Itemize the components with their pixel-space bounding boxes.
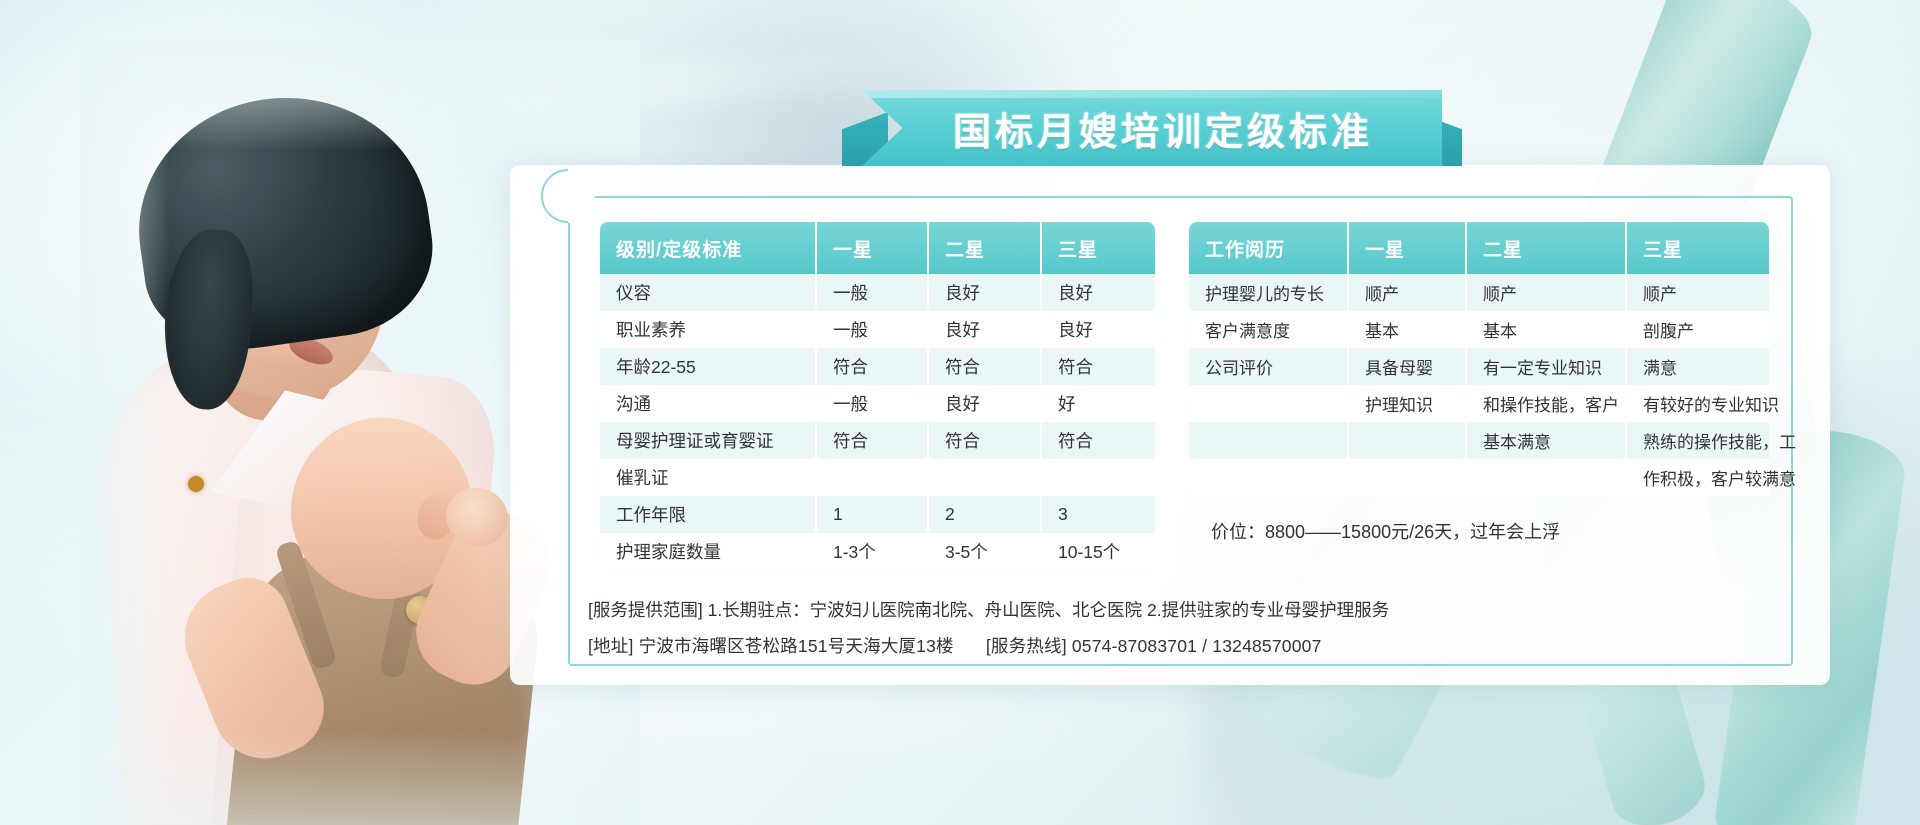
cell-two-star: 有一定专业知识	[1467, 348, 1627, 385]
address-text: [地址] 宁波市海曙区苍松路151号天海大厦13楼	[588, 636, 954, 656]
price-note: 价位：8800——15800元/26天，过年会上浮	[1189, 518, 1769, 544]
tables-area: 级别/定级标准 一星 二星 三星 仪容 一般 良好 良好 职业素养 一般 良好	[600, 222, 1770, 570]
cell-one-star: 顺产	[1349, 274, 1467, 311]
cell-two-star: 顺产	[1467, 274, 1627, 311]
cell-one-star: 1	[817, 496, 929, 533]
table-row: 客户满意度 基本 基本 剖腹产	[1189, 311, 1769, 348]
cell-one-star: 1-3个	[817, 533, 929, 570]
cell-one-star: 符合	[817, 348, 929, 385]
cell-three-star: 剖腹产	[1627, 311, 1769, 348]
experience-section: 工作阅历 一星 二星 三星 护理婴儿的专长 顺产 顺产 顺产 客户满意度	[1189, 222, 1769, 544]
row-label: 催乳证	[600, 459, 817, 496]
col-header-three-star: 三星	[1627, 222, 1769, 274]
row-label: 护理家庭数量	[600, 533, 817, 570]
row-label: 仪容	[600, 274, 817, 311]
cell-three-star: 顺产	[1627, 274, 1769, 311]
table-body: 仪容 一般 良好 良好 职业素养 一般 良好 良好 年龄22-55 符合 符合 …	[600, 274, 1155, 570]
table-row: 工作年限 1 2 3	[600, 496, 1155, 533]
cell-two-star	[929, 459, 1042, 496]
cell-two-star: 2	[929, 496, 1042, 533]
table-head: 级别/定级标准 一星 二星 三星	[600, 222, 1155, 274]
table-header-row: 级别/定级标准 一星 二星 三星	[600, 222, 1155, 274]
cell-two-star: 3-5个	[929, 533, 1042, 570]
cell-one-star: 一般	[817, 274, 929, 311]
cell-two-star: 基本满意	[1467, 422, 1627, 459]
table-head: 工作阅历 一星 二星 三星	[1189, 222, 1769, 274]
cell-three-star: 良好	[1042, 274, 1155, 311]
cell-two-star: 良好	[929, 311, 1042, 348]
table-row: 公司评价 具备母婴 有一定专业知识 满意	[1189, 348, 1769, 385]
cell-one-star: 一般	[817, 385, 929, 422]
row-label: 工作年限	[600, 496, 817, 533]
cell-two-star	[1467, 459, 1627, 496]
col-header-one-star: 一星	[1349, 222, 1467, 274]
cell-two-star: 符合	[929, 348, 1042, 385]
work-experience-table: 工作阅历 一星 二星 三星 护理婴儿的专长 顺产 顺产 顺产 客户满意度	[1189, 222, 1769, 496]
cell-two-star: 良好	[929, 385, 1042, 422]
row-label: 客户满意度	[1189, 311, 1349, 348]
table-row: 护理知识 和操作技能，客户 有较好的专业知识	[1189, 385, 1769, 422]
cell-three-star: 3	[1042, 496, 1155, 533]
row-label: 年龄22-55	[600, 348, 817, 385]
table-row: 护理婴儿的专长 顺产 顺产 顺产	[1189, 274, 1769, 311]
cell-one-star: 符合	[817, 422, 929, 459]
col-header-two-star: 二星	[929, 222, 1042, 274]
cell-one-star	[817, 459, 929, 496]
cell-two-star: 良好	[929, 274, 1042, 311]
table-row: 基本满意 熟练的操作技能，工	[1189, 422, 1769, 459]
cell-one-star	[1349, 459, 1467, 496]
row-label	[1189, 459, 1349, 496]
cell-two-star: 符合	[929, 422, 1042, 459]
cell-three-star: 良好	[1042, 311, 1155, 348]
table-row: 年龄22-55 符合 符合 符合	[600, 348, 1155, 385]
contact-line: [地址] 宁波市海曙区苍松路151号天海大厦13楼 [服务热线] 0574-87…	[588, 628, 1389, 664]
row-label: 沟通	[600, 385, 817, 422]
cell-one-star: 一般	[817, 311, 929, 348]
row-label: 职业素养	[600, 311, 817, 348]
row-label: 母婴护理证或育婴证	[600, 422, 817, 459]
col-header-two-star: 二星	[1467, 222, 1627, 274]
cell-three-star: 作积极，客户较满意	[1627, 459, 1769, 496]
cell-one-star: 具备母婴	[1349, 348, 1467, 385]
table-row: 职业素养 一般 良好 良好	[600, 311, 1155, 348]
row-label: 护理婴儿的专长	[1189, 274, 1349, 311]
cell-two-star: 基本	[1467, 311, 1627, 348]
footer-info: [服务提供范围] 1.长期驻点：宁波妇儿医院南北院、舟山医院、北仑医院 2.提供…	[588, 592, 1389, 664]
table-row: 沟通 一般 良好 好	[600, 385, 1155, 422]
table-row: 催乳证	[600, 459, 1155, 496]
cell-three-star: 10-15个	[1042, 533, 1155, 570]
cell-two-star: 和操作技能，客户	[1467, 385, 1627, 422]
table-body: 护理婴儿的专长 顺产 顺产 顺产 客户满意度 基本 基本 剖腹产 公司评价 具备…	[1189, 274, 1769, 496]
row-label: 公司评价	[1189, 348, 1349, 385]
cell-three-star: 好	[1042, 385, 1155, 422]
cell-three-star: 有较好的专业知识	[1627, 385, 1769, 422]
table-row: 护理家庭数量 1-3个 3-5个 10-15个	[600, 533, 1155, 570]
cell-three-star: 符合	[1042, 348, 1155, 385]
table-row: 作积极，客户较满意	[1189, 459, 1769, 496]
table-header-row: 工作阅历 一星 二星 三星	[1189, 222, 1769, 274]
cell-three-star: 熟练的操作技能，工	[1627, 422, 1769, 459]
hotline-text: [服务热线] 0574-87083701 / 13248570007	[986, 636, 1322, 656]
cell-three-star: 符合	[1042, 422, 1155, 459]
cell-three-star	[1042, 459, 1155, 496]
cell-one-star	[1349, 422, 1467, 459]
grading-standard-table: 级别/定级标准 一星 二星 三星 仪容 一般 良好 良好 职业素养 一般 良好	[600, 222, 1155, 570]
poster-canvas: 国标月嫂培训定级标准 级别/定级标准 一星 二星 三星 仪容 一般 良好 良好	[0, 0, 1920, 825]
col-header-experience: 工作阅历	[1189, 222, 1349, 274]
cell-one-star: 护理知识	[1349, 385, 1467, 422]
service-scope-line: [服务提供范围] 1.长期驻点：宁波妇儿医院南北院、舟山医院、北仑医院 2.提供…	[588, 592, 1389, 628]
table-row: 母婴护理证或育婴证 符合 符合 符合	[600, 422, 1155, 459]
table-row: 仪容 一般 良好 良好	[600, 274, 1155, 311]
col-header-one-star: 一星	[817, 222, 929, 274]
row-label	[1189, 422, 1349, 459]
row-label	[1189, 385, 1349, 422]
col-header-criteria: 级别/定级标准	[600, 222, 817, 274]
title-ribbon: 国标月嫂培训定级标准	[862, 90, 1442, 166]
page-title: 国标月嫂培训定级标准	[931, 101, 1373, 156]
cell-one-star: 基本	[1349, 311, 1467, 348]
col-header-three-star: 三星	[1042, 222, 1155, 274]
cell-three-star: 满意	[1627, 348, 1769, 385]
